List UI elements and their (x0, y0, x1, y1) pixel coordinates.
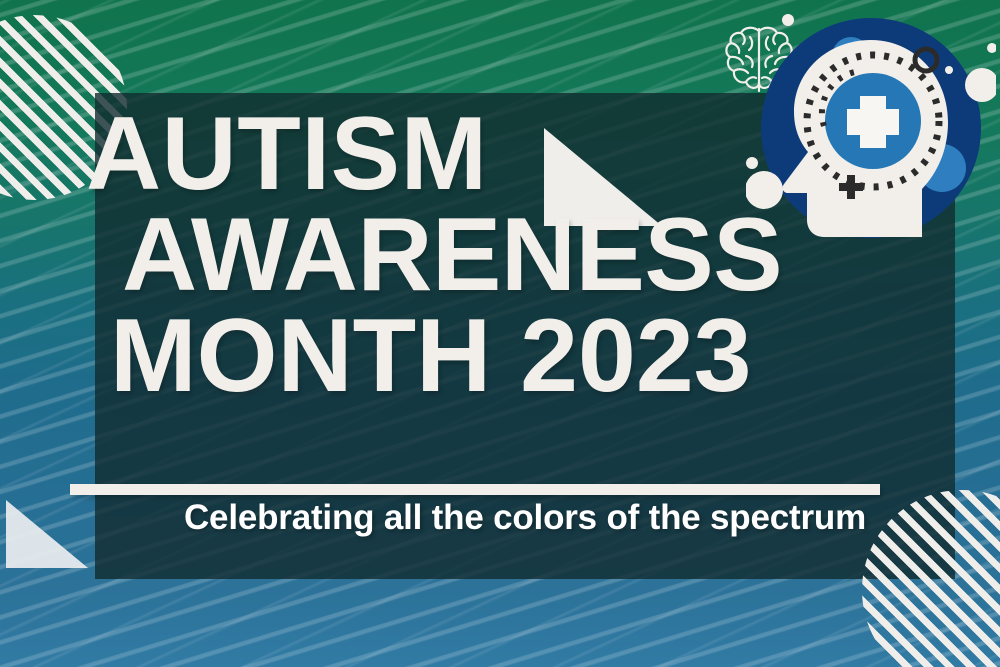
head-with-medical-cross-icon (746, 8, 996, 258)
triangle-icon-bottom-left (6, 500, 88, 568)
dot-icon-5 (782, 14, 794, 26)
dot-icon-6 (987, 43, 996, 53)
headline-line-3: MONTH 2023 (78, 306, 908, 407)
dot-icon-1 (945, 66, 953, 74)
subtitle-text: Celebrating all the colors of the spectr… (95, 498, 955, 538)
dot-icon-4 (746, 157, 758, 169)
poster-canvas: AUTISM AWARENESS MONTH 2023 Celebrating … (0, 0, 1000, 667)
divider-rule (70, 484, 880, 495)
dot-icon-3 (746, 171, 783, 209)
